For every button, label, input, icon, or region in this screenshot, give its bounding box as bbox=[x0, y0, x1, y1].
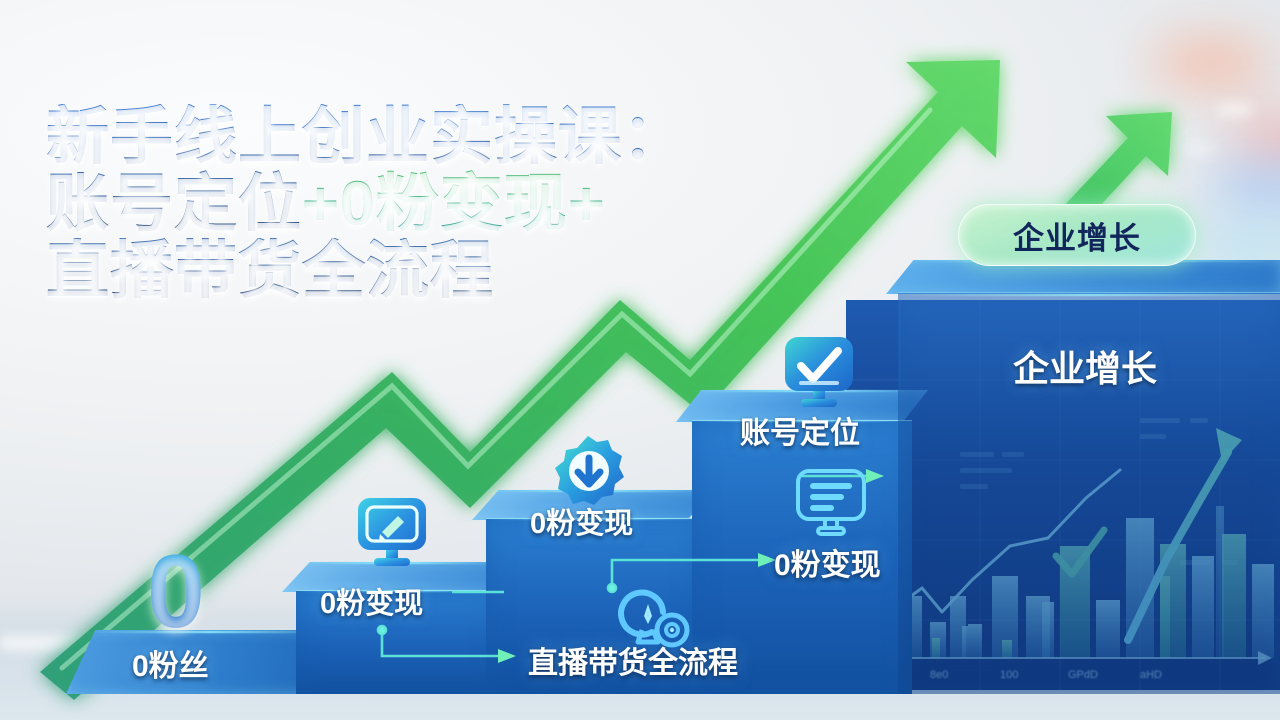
step-5[interactable] bbox=[886, 260, 1280, 694]
step-5-label: 企业增长 bbox=[1013, 340, 1157, 392]
monitor-lines-icon[interactable] bbox=[794, 468, 868, 543]
poster-canvas: 新手线上创业实操课： 账号定位+0粉变现+ 直播带货全流程 bbox=[0, 0, 1280, 720]
zero-fan-monetize-label: 0粉变现 bbox=[774, 540, 881, 584]
step-1-label: 0粉丝 bbox=[132, 641, 209, 685]
ring-light-camera-icon[interactable] bbox=[618, 578, 696, 655]
step-5-edge-glow-2 bbox=[898, 294, 1278, 296]
zero-fans-number: 0 bbox=[147, 540, 205, 644]
step-2-label: 0粉变现 bbox=[320, 580, 423, 622]
monitor-pen-icon[interactable] bbox=[356, 494, 428, 575]
gear-download-icon[interactable] bbox=[550, 434, 626, 515]
growth-badge-label: 企业增长 bbox=[1013, 213, 1141, 258]
monitor-check-icon[interactable] bbox=[782, 334, 856, 417]
growth-badge[interactable]: 企业增长 bbox=[958, 204, 1196, 266]
